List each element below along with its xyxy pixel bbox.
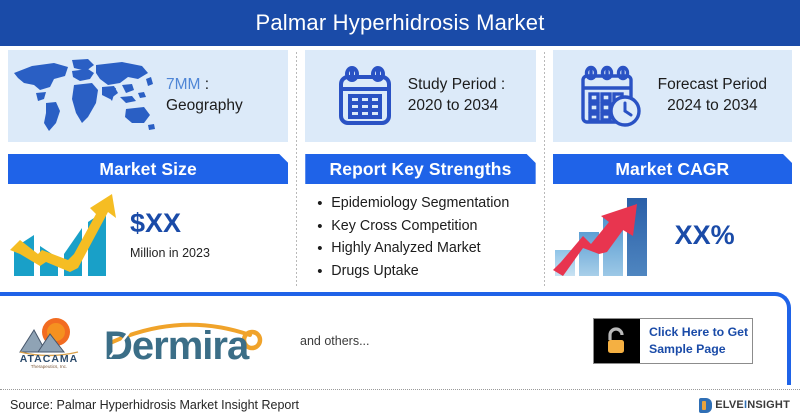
list-item: Drugs Uptake: [331, 260, 535, 283]
partners-panel: ATACAMA Therapeutics, Inc. Dermira and o…: [0, 292, 791, 385]
svg-text:Dermira: Dermira: [104, 324, 250, 368]
header-bar: Palmar Hyperhidrosis Market: [0, 0, 800, 46]
key-strengths-list: Epidemiology Segmentation Key Cross Comp…: [305, 192, 535, 282]
brand-part1: ELVE: [715, 399, 744, 411]
list-item: Key Cross Competition: [331, 215, 535, 238]
columns-region: 7MM : Geography Market Size: [0, 46, 800, 292]
geography-card: 7MM : Geography: [8, 50, 288, 142]
market-size-value: $XX: [130, 210, 210, 237]
market-size-metric: $XX Million in 2023: [8, 192, 288, 278]
and-others-label: and others...: [300, 334, 370, 348]
brand-part3: NSIGHT: [747, 399, 790, 411]
section-header-market-size: Market Size: [8, 154, 288, 184]
sample-page-label[interactable]: Click Here to Get Sample Page: [640, 319, 752, 363]
svg-text:Therapeutics, Inc.: Therapeutics, Inc.: [31, 364, 68, 369]
calendar-clock-icon: [578, 64, 644, 128]
sample-page-button[interactable]: Click Here to Get Sample Page: [593, 318, 753, 364]
delveinsight-mark-icon: [699, 398, 712, 413]
study-period-card: Study Period : 2020 to 2034: [305, 50, 535, 142]
dermira-logo: Dermira: [100, 313, 272, 369]
market-size-caption: Million in 2023: [130, 246, 210, 260]
bar-chart-up-arrow-icon: [8, 192, 120, 278]
section-header-market-cagr: Market CAGR: [553, 154, 792, 184]
forecast-period-line1: Forecast Period: [658, 75, 767, 96]
footer: Source: Palmar Hyperhidrosis Market Insi…: [0, 389, 800, 420]
partners-inner: ATACAMA Therapeutics, Inc. Dermira and o…: [0, 296, 787, 385]
page-title: Palmar Hyperhidrosis Market: [255, 10, 544, 36]
geography-label: 7MM : Geography: [166, 75, 288, 116]
key-strengths-body: Epidemiology Segmentation Key Cross Comp…: [297, 192, 543, 282]
column-report-key-strengths: Study Period : 2020 to 2034 Report Key S…: [297, 46, 543, 292]
ribbon-wrap-market-cagr: Market CAGR: [553, 154, 792, 184]
forecast-period-line2: 2024 to 2034: [658, 96, 767, 117]
ribbon-wrap-market-size: Market Size: [8, 154, 288, 184]
study-period-line1: Study Period :: [408, 75, 505, 96]
source-label: Source: Palmar Hyperhidrosis Market Insi…: [10, 398, 299, 412]
ribbon-wrap-key-strengths: Report Key Strengths: [305, 154, 535, 184]
market-cagr-text: XX%: [675, 222, 735, 249]
section-header-key-strengths: Report Key Strengths: [305, 154, 535, 184]
logo-strip: ATACAMA Therapeutics, Inc. Dermira: [16, 312, 272, 370]
world-map-icon: [10, 57, 160, 135]
calendar-icon: [336, 65, 394, 127]
market-cagr-value: XX%: [675, 222, 735, 249]
study-period-label: Study Period : 2020 to 2034: [408, 75, 505, 116]
column-market-size: 7MM : Geography Market Size: [0, 46, 296, 292]
open-padlock-icon: [594, 319, 640, 363]
bar-chart-red-arrow-icon: [553, 192, 665, 278]
geography-highlight: 7MM: [166, 76, 200, 93]
delveinsight-logo: ELVEINSIGHT: [699, 398, 790, 413]
atacama-logo: ATACAMA Therapeutics, Inc.: [16, 312, 82, 370]
market-size-body: $XX Million in 2023: [0, 192, 296, 278]
list-item: Epidemiology Segmentation: [331, 192, 535, 215]
study-period-line2: 2020 to 2034: [408, 96, 505, 117]
forecast-period-label: Forecast Period 2024 to 2034: [658, 75, 767, 116]
list-item: Highly Analyzed Market: [331, 237, 535, 260]
delveinsight-wordmark: ELVEINSIGHT: [715, 399, 790, 411]
column-market-cagr: Forecast Period 2024 to 2034 Market CAGR: [545, 46, 800, 292]
market-cagr-metric: XX%: [553, 192, 792, 278]
cta-line2: Sample Page: [649, 342, 726, 356]
cta-line1: Click Here to Get: [649, 325, 748, 339]
forecast-period-card: Forecast Period 2024 to 2034: [553, 50, 792, 142]
market-size-text: $XX Million in 2023: [130, 210, 210, 260]
market-cagr-body: XX%: [545, 192, 800, 278]
